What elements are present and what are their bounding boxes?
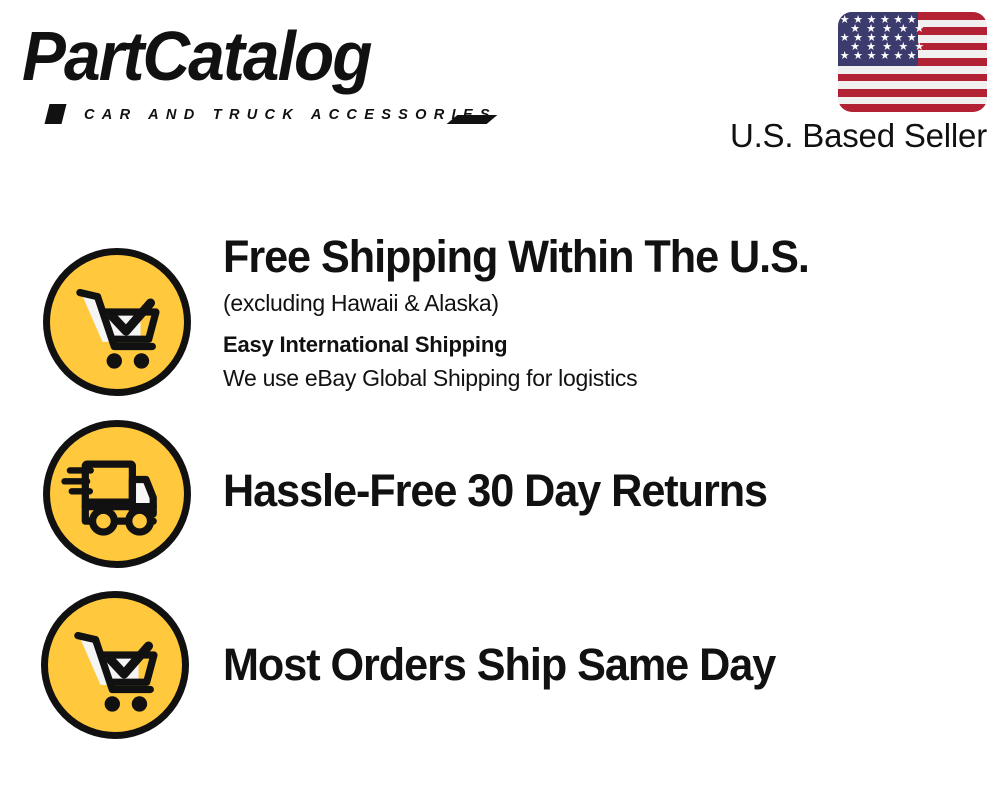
shopping-cart-check-icon [41,591,189,739]
promo-banner: PartCatalog CAR AND TRUCK ACCESSORIES ★★… [0,0,1000,800]
brand-wordmark: PartCatalog [22,20,371,92]
feature-text-block: Most Orders Ship Same Day [223,640,798,690]
feature-subline: We use eBay Global Shipping for logistic… [223,363,833,393]
us-based-seller-label: U.S. Based Seller [587,117,987,155]
brand-logo: PartCatalog CAR AND TRUCK ACCESSORIES [22,20,492,120]
feature-text-block: Hassle-Free 30 Day Returns [223,466,790,516]
brand-tagline: CAR AND TRUCK ACCESSORIES [84,106,497,123]
feature-title: Hassle-Free 30 Day Returns [223,466,767,516]
delivery-truck-glyph [50,427,184,561]
feature-subline: (excluding Hawaii & Alaska) [223,288,833,318]
delivery-truck-icon [43,420,191,568]
feature-title: Most Orders Ship Same Day [223,640,775,690]
flag-canton: ★★★★★★ ★★★★★ ★★★★★★ ★★★★★ ★★★★★★ [838,12,918,66]
feature-subline: Easy International Shipping [223,330,833,360]
feature-title: Free Shipping Within The U.S. [223,232,809,282]
feature-text-block: Free Shipping Within The U.S. (excluding… [223,232,833,393]
shopping-cart-check-glyph [48,598,182,732]
shopping-cart-check-glyph [50,255,184,389]
us-flag-icon: ★★★★★★ ★★★★★ ★★★★★★ ★★★★★ ★★★★★★ [838,12,987,112]
shopping-cart-check-icon [43,248,191,396]
logo-accent-left-icon [45,104,67,124]
